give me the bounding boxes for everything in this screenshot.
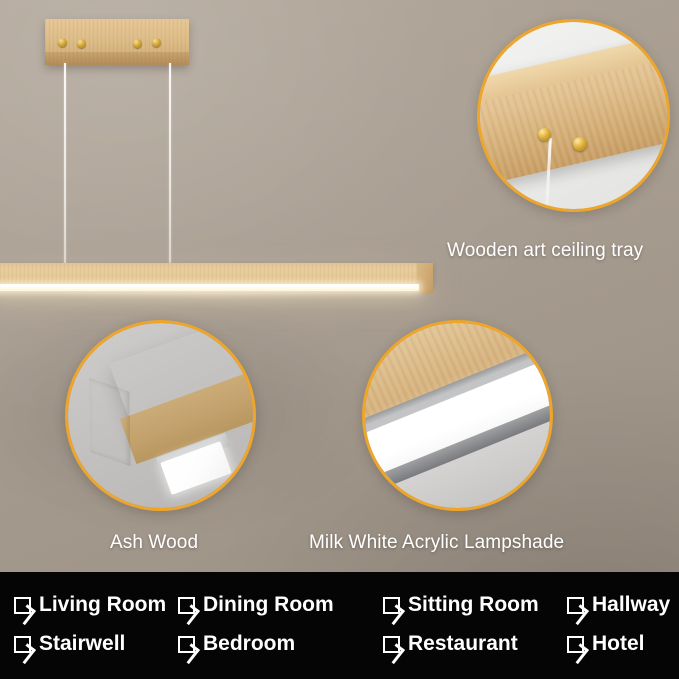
scene-label: Restaurant [408,632,518,656]
scene-label: Sitting Room [408,593,539,617]
brass-screw-icon [152,38,161,47]
ceiling-tray-front-face [45,52,189,65]
brass-screw-icon [58,38,67,47]
linear-light-bar [0,263,433,302]
scene-label: Stairwell [39,632,125,656]
scene-label: Bedroom [203,632,295,656]
callout-photo-acrylic-lampshade [365,323,550,508]
led-strip [0,284,419,291]
scene-item-restaurant: Restaurant [383,632,518,656]
scene-item-hotel: Hotel [567,632,645,656]
checked-box-icon [567,597,584,614]
ash-wood-end-grain-face [89,378,130,466]
application-scenes-grid: Living Room Dining Room Sitting Room Hal… [0,572,679,679]
scene-label: Hallway [592,593,670,617]
brass-screw-icon [77,39,86,48]
checked-box-icon [383,597,400,614]
callout-circle-acrylic-lampshade [362,320,553,511]
brass-screw-icon [538,128,551,141]
scene-label: Living Room [39,593,166,617]
callout-circle-ceiling-tray [477,19,670,212]
scene-item-sitting-room: Sitting Room [383,593,539,617]
callout-circle-ash-wood [65,320,256,511]
product-image-canvas: Wooden art ceiling tray Ash Wood Milk Wh… [0,0,679,679]
application-scenes-band: Living Room Dining Room Sitting Room Hal… [0,572,679,679]
callout-label-ash-wood: Ash Wood [110,532,198,554]
callout-photo-ceiling-tray [480,22,667,209]
scene-label: Hotel [592,632,645,656]
scene-item-bedroom: Bedroom [178,632,295,656]
checked-box-icon [14,597,31,614]
ceiling-tray [45,19,189,65]
checked-box-icon [383,636,400,653]
scene-item-hallway: Hallway [567,593,670,617]
suspension-cable [169,63,171,269]
callout-photo-ash-wood [68,323,253,508]
scene-item-living-room: Living Room [14,593,166,617]
callout-label-acrylic-lampshade: Milk White Acrylic Lampshade [309,532,564,554]
checked-box-icon [567,636,584,653]
light-bar-wood-body [0,263,433,286]
checked-box-icon [178,636,195,653]
brass-screw-icon [133,39,142,48]
scene-label: Dining Room [203,593,334,617]
light-bar-end-cap [417,263,433,294]
scene-item-stairwell: Stairwell [14,632,125,656]
scene-item-dining-room: Dining Room [178,593,334,617]
callout-label-ceiling-tray: Wooden art ceiling tray [447,240,643,262]
checked-box-icon [178,597,195,614]
brass-screw-icon [573,137,587,151]
checked-box-icon [14,636,31,653]
suspension-cable [64,63,66,269]
